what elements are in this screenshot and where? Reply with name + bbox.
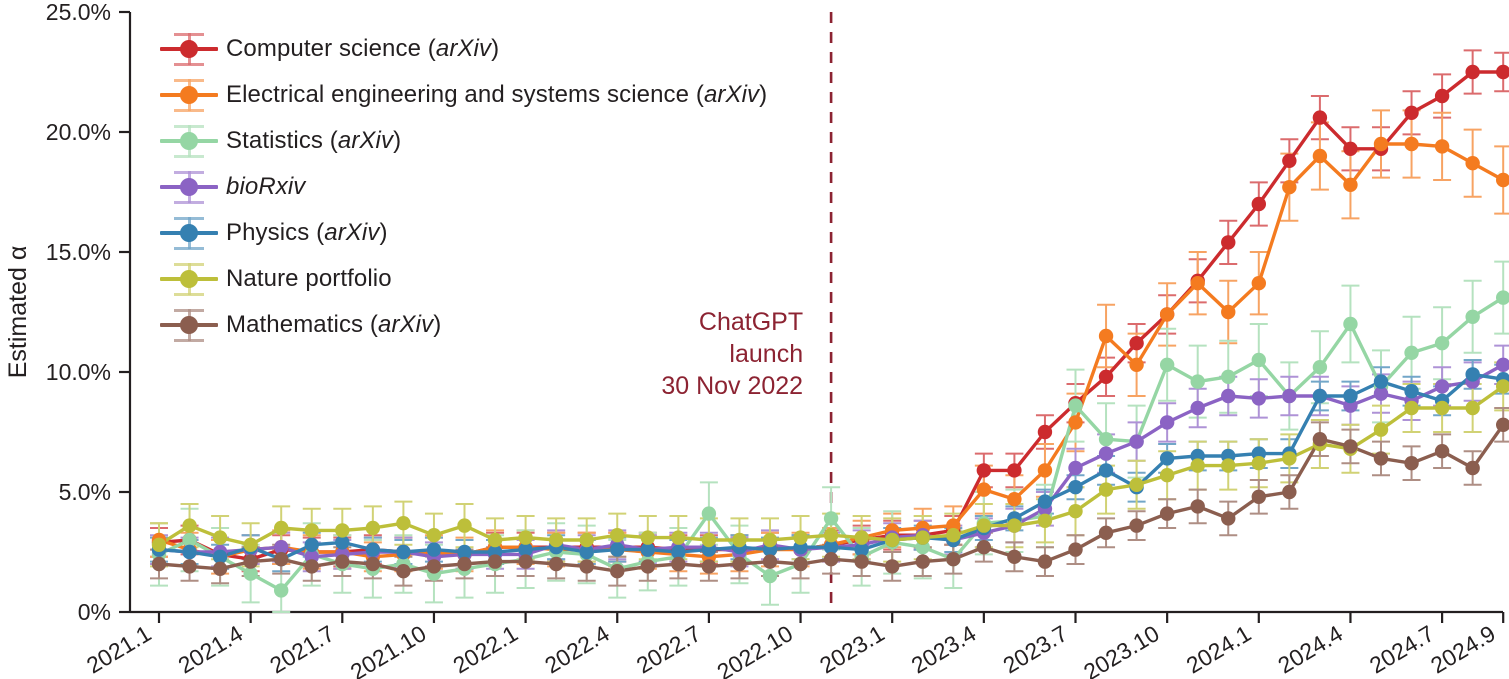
data-point xyxy=(1221,235,1235,249)
data-point xyxy=(1252,276,1266,290)
data-point xyxy=(1343,178,1357,192)
data-point xyxy=(1404,346,1418,360)
legend-item-5[interactable]: Nature portfolio xyxy=(160,256,880,302)
x-tick-label: 2024.4 xyxy=(1273,620,1347,679)
data-point xyxy=(427,542,441,556)
data-point xyxy=(1068,461,1082,475)
data-point xyxy=(549,557,563,571)
data-point xyxy=(396,516,410,530)
data-point xyxy=(1343,389,1357,403)
data-point xyxy=(1099,329,1113,343)
data-point xyxy=(1068,504,1082,518)
data-point xyxy=(916,554,930,568)
data-point xyxy=(1221,511,1235,525)
data-point xyxy=(1313,432,1327,446)
data-point xyxy=(1191,499,1205,513)
data-point xyxy=(1313,360,1327,374)
data-point xyxy=(518,530,532,544)
legend-item-label: Physics (arXiv) xyxy=(226,219,388,247)
x-tick-label: 2022.10 xyxy=(712,620,797,679)
data-point xyxy=(1435,444,1449,458)
data-point xyxy=(1404,456,1418,470)
data-point xyxy=(1496,65,1509,79)
data-point xyxy=(1160,307,1174,321)
data-point xyxy=(1160,506,1174,520)
data-point xyxy=(793,530,807,544)
data-point xyxy=(1252,353,1266,367)
data-point xyxy=(977,463,991,477)
data-point xyxy=(243,554,257,568)
data-point xyxy=(488,533,502,547)
legend-marker-icon xyxy=(160,308,218,342)
data-point xyxy=(1007,518,1021,532)
data-point xyxy=(1252,456,1266,470)
data-point xyxy=(1129,434,1143,448)
data-point xyxy=(671,557,685,571)
data-point xyxy=(1435,336,1449,350)
legend-item-label: Computer science (arXiv) xyxy=(226,35,499,63)
data-point xyxy=(396,545,410,559)
data-point xyxy=(1099,432,1113,446)
data-point xyxy=(1038,514,1052,528)
data-point xyxy=(1099,482,1113,496)
data-point xyxy=(610,528,624,542)
legend-marker-icon xyxy=(160,78,218,112)
data-point xyxy=(457,557,471,571)
data-point xyxy=(1374,374,1388,388)
y-tick-label: 0% xyxy=(78,599,111,625)
data-point xyxy=(1404,137,1418,151)
data-point xyxy=(1282,451,1296,465)
data-point xyxy=(366,557,380,571)
data-point xyxy=(243,538,257,552)
data-point xyxy=(763,533,777,547)
x-tick-label: 2023.1 xyxy=(815,620,889,679)
data-point xyxy=(1404,106,1418,120)
data-point xyxy=(182,559,196,573)
data-point xyxy=(1160,358,1174,372)
legend-item-label: Mathematics (arXiv) xyxy=(226,311,441,339)
data-point xyxy=(580,559,594,573)
data-point xyxy=(1435,401,1449,415)
data-point xyxy=(763,554,777,568)
legend-marker-icon xyxy=(160,170,218,204)
data-point xyxy=(213,562,227,576)
data-point xyxy=(1191,458,1205,472)
x-tick-label: 2024.7 xyxy=(1365,620,1439,679)
data-point xyxy=(702,559,716,573)
data-point xyxy=(977,540,991,554)
data-point xyxy=(1191,276,1205,290)
data-point xyxy=(1465,310,1479,324)
data-point xyxy=(305,523,319,537)
data-point xyxy=(763,569,777,583)
data-point xyxy=(1221,458,1235,472)
data-point xyxy=(1038,494,1052,508)
data-point xyxy=(885,533,899,547)
data-point xyxy=(1343,439,1357,453)
data-point xyxy=(1465,65,1479,79)
data-point xyxy=(1129,478,1143,492)
data-point xyxy=(1191,401,1205,415)
data-point xyxy=(1221,305,1235,319)
data-point xyxy=(549,533,563,547)
data-point xyxy=(335,523,349,537)
legend-item-0[interactable]: Computer science (arXiv) xyxy=(160,26,880,72)
x-tick-label: 2023.4 xyxy=(907,620,981,679)
data-point xyxy=(610,564,624,578)
data-point xyxy=(152,557,166,571)
legend-item-3[interactable]: bioRxiv xyxy=(160,164,880,210)
data-point xyxy=(1404,384,1418,398)
data-point xyxy=(1343,142,1357,156)
data-point xyxy=(641,559,655,573)
data-point xyxy=(335,554,349,568)
data-point xyxy=(1435,379,1449,393)
data-point xyxy=(1374,422,1388,436)
data-point xyxy=(1099,526,1113,540)
x-tick-label: 2021.7 xyxy=(265,620,339,679)
y-tick-label: 20.0% xyxy=(46,119,111,145)
x-tick-label: 2022.7 xyxy=(632,620,706,679)
data-point xyxy=(1007,463,1021,477)
data-point xyxy=(641,530,655,544)
data-point xyxy=(1252,490,1266,504)
data-point xyxy=(732,557,746,571)
data-point xyxy=(182,518,196,532)
y-axis-title: Estimated α xyxy=(4,246,32,379)
data-point xyxy=(1465,156,1479,170)
chatgpt-launch-label: 30 Nov 2022 xyxy=(661,372,803,400)
data-point xyxy=(977,482,991,496)
x-tick-label: 2022.1 xyxy=(448,620,522,679)
data-point xyxy=(366,542,380,556)
x-tick-label: 2021.1 xyxy=(82,620,156,679)
data-point xyxy=(274,552,288,566)
data-point xyxy=(1221,370,1235,384)
data-point xyxy=(1068,415,1082,429)
chart-figure: 0%5.0%10.0%15.0%20.0%25.0%Estimated α202… xyxy=(0,0,1509,679)
legend-item-6[interactable]: Mathematics (arXiv) xyxy=(160,302,880,348)
data-point xyxy=(366,521,380,535)
data-point xyxy=(1099,446,1113,460)
data-point xyxy=(1496,358,1509,372)
data-point xyxy=(1038,554,1052,568)
data-point xyxy=(1068,398,1082,412)
data-point xyxy=(274,521,288,535)
data-point xyxy=(1007,492,1021,506)
data-point xyxy=(1007,550,1021,564)
y-tick-label: 15.0% xyxy=(46,239,111,265)
data-point xyxy=(916,530,930,544)
data-point xyxy=(1191,374,1205,388)
data-point xyxy=(1252,391,1266,405)
data-point xyxy=(1129,358,1143,372)
data-point xyxy=(977,518,991,532)
y-tick-label: 25.0% xyxy=(46,0,111,25)
data-point xyxy=(1313,149,1327,163)
data-point xyxy=(1496,173,1509,187)
data-point xyxy=(1129,336,1143,350)
data-point xyxy=(182,545,196,559)
data-point xyxy=(1068,542,1082,556)
data-point xyxy=(1465,461,1479,475)
data-point xyxy=(854,530,868,544)
data-point xyxy=(1068,480,1082,494)
data-point xyxy=(1221,389,1235,403)
data-point xyxy=(305,559,319,573)
legend-item-label: bioRxiv xyxy=(226,173,305,201)
chart-legend: Computer science (arXiv) Electrical engi… xyxy=(160,26,880,348)
data-point xyxy=(702,533,716,547)
data-point xyxy=(854,554,868,568)
legend-item-label: Nature portfolio xyxy=(226,265,392,293)
data-point xyxy=(946,552,960,566)
legend-marker-icon xyxy=(160,32,218,66)
x-tick-label: 2023.10 xyxy=(1079,620,1164,679)
data-point xyxy=(1160,415,1174,429)
data-point xyxy=(824,511,838,525)
data-point xyxy=(1282,154,1296,168)
data-point xyxy=(946,528,960,542)
x-tick-label: 2023.7 xyxy=(998,620,1072,679)
legend-marker-icon xyxy=(160,124,218,158)
data-point xyxy=(518,554,532,568)
data-point xyxy=(1038,425,1052,439)
data-point xyxy=(732,533,746,547)
data-point xyxy=(885,559,899,573)
data-point xyxy=(580,533,594,547)
x-tick-label: 2021.10 xyxy=(346,620,431,679)
data-point xyxy=(824,528,838,542)
data-point xyxy=(1465,401,1479,415)
y-tick-label: 10.0% xyxy=(46,359,111,385)
data-point xyxy=(1282,180,1296,194)
legend-marker-icon xyxy=(160,216,218,250)
x-tick-label: 2024.1 xyxy=(1182,620,1256,679)
data-point xyxy=(1160,451,1174,465)
y-tick-label: 5.0% xyxy=(59,479,111,505)
legend-marker-icon xyxy=(160,262,218,296)
data-point xyxy=(1099,463,1113,477)
data-point xyxy=(1129,518,1143,532)
data-point xyxy=(1465,367,1479,381)
data-point xyxy=(427,559,441,573)
legend-item-label: Statistics (arXiv) xyxy=(226,127,401,155)
x-tick-label: 2024.9 xyxy=(1426,620,1500,679)
data-point xyxy=(1374,451,1388,465)
x-tick-label: 2021.4 xyxy=(174,620,248,679)
data-point xyxy=(610,542,624,556)
legend-item-4[interactable]: Physics (arXiv) xyxy=(160,210,880,256)
data-point xyxy=(1282,389,1296,403)
data-point xyxy=(427,528,441,542)
data-point xyxy=(1282,485,1296,499)
data-point xyxy=(1404,401,1418,415)
data-point xyxy=(1435,89,1449,103)
legend-item-2[interactable]: Statistics (arXiv) xyxy=(160,118,880,164)
data-point xyxy=(274,583,288,597)
data-point xyxy=(1374,137,1388,151)
data-point xyxy=(1435,139,1449,153)
legend-item-label: Electrical engineering and systems scien… xyxy=(226,81,767,109)
legend-item-1[interactable]: Electrical engineering and systems scien… xyxy=(160,72,880,118)
data-point xyxy=(213,530,227,544)
data-point xyxy=(488,554,502,568)
data-point xyxy=(824,552,838,566)
data-point xyxy=(152,538,166,552)
data-point xyxy=(1252,197,1266,211)
data-point xyxy=(1313,110,1327,124)
data-point xyxy=(1038,463,1052,477)
data-point xyxy=(1160,468,1174,482)
data-point xyxy=(671,530,685,544)
data-point xyxy=(396,564,410,578)
data-point xyxy=(1313,389,1327,403)
data-point xyxy=(1343,317,1357,331)
data-point xyxy=(702,506,716,520)
data-point xyxy=(305,538,319,552)
data-point xyxy=(457,518,471,532)
data-point xyxy=(793,557,807,571)
data-point xyxy=(1099,370,1113,384)
x-tick-label: 2022.4 xyxy=(540,620,614,679)
